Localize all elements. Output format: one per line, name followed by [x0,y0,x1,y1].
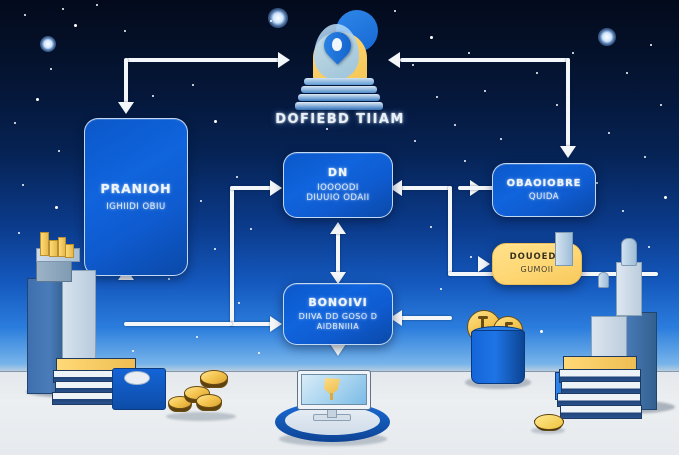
compute-node-title: BONOIVI [308,297,367,310]
logo-slab [295,102,383,110]
left-building-cluster [12,238,192,438]
location-pin-logo [287,6,392,111]
right-book-stack [557,356,649,418]
building-spire [616,262,642,316]
analytics-node-subtitle: QUIDA [529,192,559,202]
gold-bar [49,240,58,257]
logo-slab [304,78,374,85]
logo-slab [298,94,380,101]
right-building-cluster [555,232,679,444]
compute-node-subtitle: DIIVA DD GOSO D [299,312,378,322]
data-node-detail: DIUUIO ODAII [306,193,369,203]
compute-node-detail: AIDBNIIIA [317,322,360,332]
analytics-node-title: OBAOIOBRE [507,178,582,190]
jar-body [471,330,525,384]
platform-node-title: PRANIOH [101,182,172,196]
left-disc-slot [124,371,150,385]
coin-shadow [166,412,236,421]
map-pin-center-dot [332,38,342,51]
monitor-on-platform [275,370,390,448]
building-spire-tip [598,272,609,288]
compute-node[interactable]: BONOIVI DIIVA DD GOSO D AIDBNIIIA [283,283,393,345]
gold-bar [65,244,74,258]
analytics-node[interactable]: OBAOIOBRE QUIDA [492,163,596,217]
building-spire [555,232,573,266]
coin [200,370,228,385]
shield-trophy-stem-icon [330,393,333,400]
platform-node-subtitle: IGHIIDI OBIU [106,202,166,212]
coin-stack-left [166,372,236,422]
book [560,405,642,419]
building-spire-tip [621,238,637,266]
illustration-canvas: DOFIEBD TIIAM PRANIOH IGHIIDI OBIU DN IO… [0,0,679,455]
logo-slab [301,86,377,93]
logo-caption: DOFIEBD TIIAM [250,112,430,127]
data-node-title: DN [328,167,348,180]
single-coin [534,414,562,428]
data-node[interactable]: DN IOOOODI DIUUIO ODAII [283,152,393,218]
coin [196,394,222,408]
coin [534,414,564,430]
gold-bar [40,232,49,256]
coin-jar [463,310,531,390]
data-node-subtitle: IOOOODI [317,183,359,193]
report-node-subtitle: GUMOII [521,265,554,275]
